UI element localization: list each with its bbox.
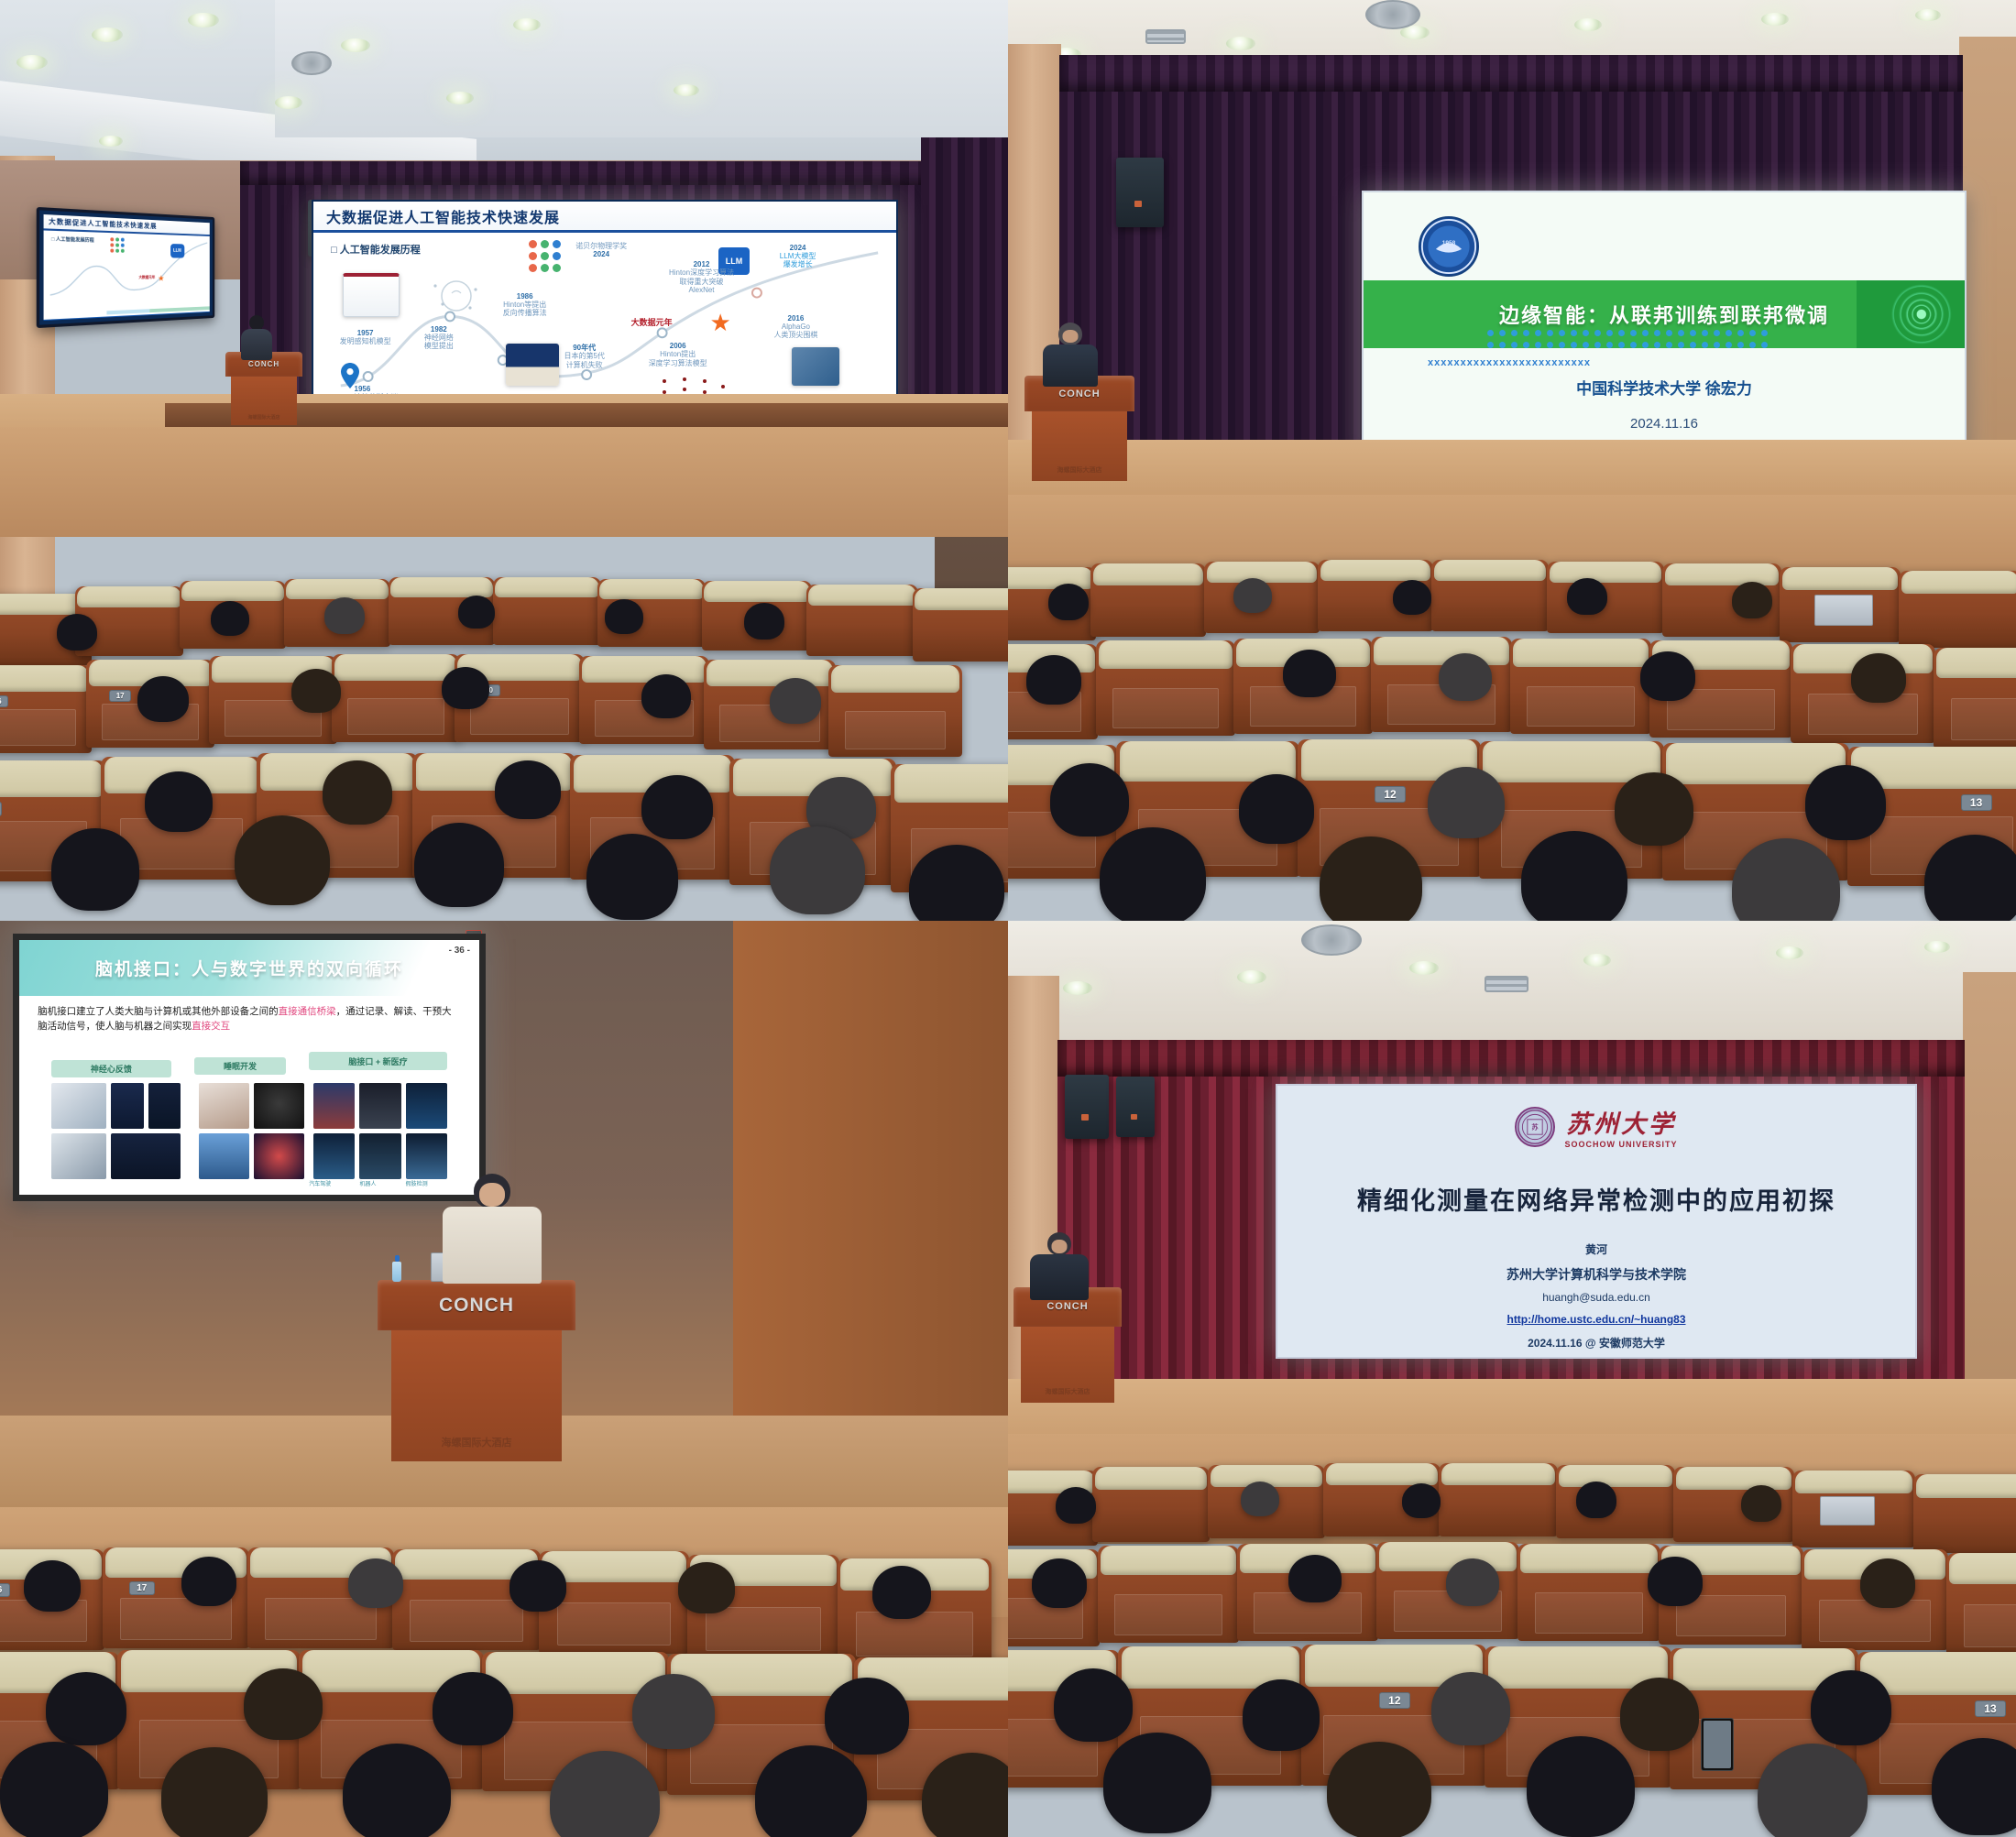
- seat-number: 17: [129, 1581, 155, 1595]
- thumbnail-headset: [254, 1083, 304, 1129]
- thumbnail-face: [406, 1133, 447, 1179]
- ceiling-light: [1409, 961, 1439, 975]
- milestone-1982: 1982神经网络模型提出: [424, 325, 454, 351]
- robot-thumb: [792, 347, 839, 386]
- soochow-logo: 苏 苏州大学 SOOCHOW UNIVERSITY: [1277, 1104, 1915, 1149]
- ceiling-light: [446, 92, 474, 104]
- thumbnail-ui-2: [111, 1133, 180, 1179]
- ceiling-vent: [1485, 976, 1528, 992]
- ceiling-light: [1915, 9, 1941, 21]
- seat-number: 12: [1375, 786, 1406, 803]
- perceptron-thumb: [343, 273, 400, 317]
- thumbnail-caption-3: 假肢检测: [406, 1179, 428, 1187]
- loudspeaker: [1116, 1077, 1155, 1137]
- ceiling-light: [1761, 13, 1789, 26]
- ceiling-vent: [1365, 0, 1420, 29]
- paragraph-highlight-1: 直接通信桥梁: [279, 1006, 336, 1017]
- slide-author: 黄河: [1277, 1241, 1915, 1257]
- panel-top-right: 1958 边缘智能：从联邦训练到联邦微调 xxxxxxxxxxxxxxxxxxx…: [1008, 0, 2016, 921]
- podium-brand-label: CONCH: [1046, 1301, 1088, 1312]
- thumbnail-headband: [199, 1083, 249, 1129]
- water-bottle: [392, 1262, 401, 1282]
- slide-title: 大数据促进人工智能技术快速发展: [313, 202, 896, 233]
- ceiling-vent: [1301, 924, 1362, 956]
- panel-top-left: 大数据促进人工智能技术快速发展 □ 人工智能发展历程 LLM: [0, 0, 1008, 921]
- ceiling-light: [16, 55, 48, 70]
- ceiling-light: [341, 38, 370, 52]
- ceiling-light: [1063, 981, 1092, 995]
- laptop[interactable]: [1814, 595, 1873, 626]
- thumbnail-athlete: [199, 1133, 249, 1179]
- panel-bottom-left: 脑机接口：人与数字世界的双向循环 - 36 - 脑机接口建立了人类大脑与计算机或…: [0, 921, 1008, 1837]
- milestone-1957: 1957发明感知机模型: [340, 329, 391, 345]
- soochow-seal-icon: 苏: [1515, 1107, 1555, 1147]
- neural-sketch-icon: [424, 273, 488, 319]
- slide-affiliation: 苏州大学计算机科学与技术学院: [1277, 1265, 1915, 1284]
- dot-cluster-icon: [529, 240, 561, 272]
- milestone-2006: 2006Hinton提出深度学习算法模型: [649, 342, 707, 367]
- ceiling-light: [1226, 37, 1255, 50]
- panel-bottom-right: 苏 苏州大学 SOOCHOW UNIVERSITY 精细化测量在网络异常检测中的…: [1008, 921, 2016, 1837]
- presenter: [1024, 1232, 1094, 1296]
- dot-row-icon: [1487, 330, 1768, 348]
- podium-sub-label: 海螺国际大酒店: [247, 414, 279, 421]
- ceiling-light: [92, 27, 123, 42]
- seat-number: 13: [1975, 1700, 2006, 1717]
- thumbnail-neuro-viz: [254, 1133, 304, 1179]
- presenter: [1037, 323, 1103, 383]
- paragraph-part-1: 脑机接口建立了人类大脑与计算机或其他外部设备之间的: [38, 1006, 279, 1017]
- soochow-logo-en: SOOCHOW UNIVERSITY: [1564, 1140, 1677, 1149]
- milestone-2024-nobel: 诺贝尔物理学奖2024: [575, 242, 627, 258]
- presenter: [236, 315, 277, 359]
- slide-title: 脑机接口：人与数字世界的双向循环: [95, 956, 403, 980]
- thumbnail-ui: [111, 1083, 143, 1129]
- seat-number: 14: [0, 802, 2, 816]
- thumbnail-device: [51, 1083, 106, 1129]
- podium-brand-label: CONCH: [248, 360, 279, 368]
- thumbnail-brain-scan: [148, 1083, 181, 1129]
- slide-title: 边缘智能：从联邦训练到联邦微调: [1499, 300, 1829, 329]
- slide-date: 2024.11.16: [1364, 416, 1965, 432]
- photo-collage: 大数据促进人工智能技术快速发展 □ 人工智能发展历程 LLM: [0, 0, 2016, 1837]
- seat-number: 13: [1961, 794, 1992, 811]
- paragraph-highlight-2: 直接交互: [192, 1021, 230, 1032]
- timeline-curve-icon: [44, 230, 210, 308]
- seat-number: 12: [1379, 1692, 1410, 1709]
- category-label-2: 睡眠开发: [194, 1057, 286, 1075]
- projection-screen: 脑机接口：人与数字世界的双向循环 - 36 - 脑机接口建立了人类大脑与计算机或…: [13, 934, 486, 1201]
- slide-affiliation: 中国科学技术大学 徐宏力: [1364, 376, 1965, 399]
- ceiling-light: [1776, 946, 1803, 959]
- ceiling-light: [275, 96, 302, 109]
- seat-number: 17: [109, 690, 131, 702]
- slide-title: 精细化测量在网络异常检测中的应用初探: [1277, 1181, 1915, 1217]
- loudspeaker: [1116, 158, 1164, 227]
- slide-page-number: - 36 -: [449, 946, 470, 956]
- svg-text:1958: 1958: [1442, 240, 1456, 246]
- podium: CONCH 海螺国际大酒店: [378, 1280, 575, 1461]
- star-icon: ★: [709, 311, 730, 334]
- slide-paragraph: 脑机接口建立了人类大脑与计算机或其他外部设备之间的直接通信桥梁，通过记录、解读、…: [38, 1004, 461, 1034]
- laptop[interactable]: [1820, 1496, 1875, 1525]
- side-display: 大数据促进人工智能技术快速发展 □ 人工智能发展历程 LLM: [37, 207, 215, 328]
- seat-number: 16: [0, 695, 8, 707]
- thumbnail-prosthetic: [406, 1083, 447, 1129]
- milestone-2012: 2012Hinton深度学习算法取得重大突破AlexNet: [669, 260, 734, 294]
- milestone-2016: 2016AlphaGo人类顶尖围棋: [773, 314, 817, 340]
- podium: CONCH 海螺国际大酒店: [225, 352, 302, 425]
- podium-brand-label: CONCH: [1058, 388, 1100, 399]
- ceiling-light: [674, 84, 699, 96]
- ustc-logo-icon: 1958: [1419, 216, 1479, 277]
- thumbnail-figure: [313, 1133, 355, 1179]
- podium-sub-label: 海螺国际大酒店: [442, 1435, 512, 1449]
- thumbnail-robot-arm: [359, 1083, 400, 1129]
- ceiling-light: [188, 13, 219, 27]
- ceiling-light: [1583, 954, 1611, 967]
- category-label-1: 神经心反馈: [51, 1060, 171, 1077]
- book-thumb: [506, 344, 559, 386]
- decorative-x-row: xxxxxxxxxxxxxxxxxxxxxxxxx: [1428, 357, 1928, 368]
- ceiling-light: [1237, 970, 1266, 984]
- slide-date-venue: 2024.11.16 @ 安徽师范大学: [1277, 1335, 1915, 1350]
- category-label-3: 脑接口 + 新医疗: [309, 1052, 447, 1069]
- projection-screen: 1958 边缘智能：从联邦训练到联邦微调 xxxxxxxxxxxxxxxxxxx…: [1362, 191, 1967, 465]
- thumbnail-device-2: [51, 1133, 106, 1179]
- seat-number: 16: [0, 1583, 10, 1597]
- big-data-year-label: 大数据元年: [631, 318, 673, 327]
- projection-screen: 大数据促进人工智能技术快速发展 □ 人工智能发展历程: [312, 200, 898, 420]
- slide-email: huangh@suda.edu.cn: [1277, 1291, 1915, 1304]
- loudspeaker: [1065, 1075, 1109, 1139]
- thumbnail-caption-1: 汽车驾驶: [309, 1179, 331, 1187]
- svg-text:苏: 苏: [1532, 1122, 1539, 1131]
- ceiling-light: [513, 18, 541, 31]
- ceiling-light: [99, 136, 123, 147]
- thumbnail-caption-2: 机器人: [359, 1179, 376, 1187]
- ceiling-light: [1574, 18, 1602, 31]
- ceiling-vent: [291, 51, 332, 75]
- thumbnail-driving: [313, 1083, 355, 1129]
- podium: CONCH 海螺国际大酒店: [1024, 376, 1134, 481]
- milestone-2024-llm: 2024LLM大模型爆发增长: [780, 244, 816, 269]
- thumbnail-scan: [359, 1133, 400, 1179]
- ceiling-light: [1924, 941, 1950, 953]
- projection-screen: 苏 苏州大学 SOOCHOW UNIVERSITY 精细化测量在网络异常检测中的…: [1276, 1084, 1917, 1359]
- smartphone[interactable]: [1701, 1718, 1734, 1771]
- presenter: [438, 1174, 546, 1282]
- milestone-1990s: 90年代日本的第5代计算机失败: [564, 344, 604, 369]
- soochow-logo-cn: 苏州大学: [1566, 1104, 1676, 1140]
- ceiling-vent: [1145, 29, 1186, 44]
- podium-brand-label: CONCH: [439, 1295, 514, 1317]
- slide-homepage-link[interactable]: http://home.ustc.edu.cn/~huang83: [1507, 1313, 1685, 1326]
- milestone-1986: 1986Hinton等提出反向传播算法: [503, 292, 547, 318]
